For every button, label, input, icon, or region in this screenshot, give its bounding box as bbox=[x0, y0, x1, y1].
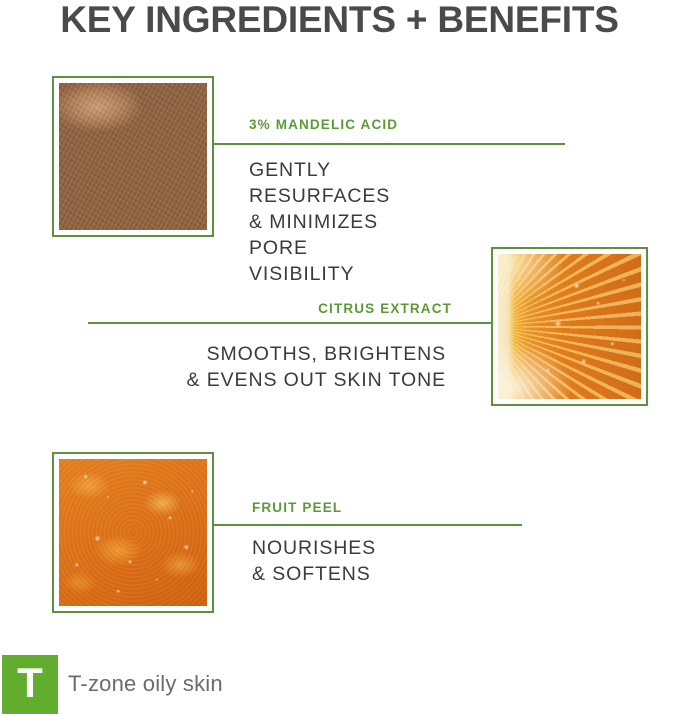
ingredient-label-fruit-peel: FRUIT PEEL bbox=[252, 500, 342, 515]
t-zone-badge: T bbox=[2, 655, 58, 714]
ingredient-description-fruit-peel: NOURISHES & SOFTENS bbox=[252, 535, 376, 587]
orange-slice-photo-frame bbox=[491, 247, 648, 406]
ingredient-description-mandelic-acid: GENTLY RESURFACES & MINIMIZES PORE VISIB… bbox=[249, 157, 390, 287]
orange-slice-photo bbox=[498, 254, 641, 399]
wet-orange-peel-photo bbox=[59, 459, 207, 606]
t-zone-caption: T-zone oily skin bbox=[68, 671, 223, 697]
ingredient-label-mandelic-acid: 3% MANDELIC ACID bbox=[249, 117, 398, 132]
page-title: KEY INGREDIENTS + BENEFITS bbox=[0, 0, 679, 43]
ingredient-divider-2 bbox=[88, 322, 492, 324]
almonds-photo bbox=[59, 83, 207, 230]
wet-orange-peel-photo-frame bbox=[52, 452, 214, 613]
ingredient-label-citrus-extract: CITRUS EXTRACT bbox=[0, 301, 452, 316]
ingredient-divider-1 bbox=[214, 143, 565, 145]
ingredient-description-citrus-extract: SMOOTHS, BRIGHTENS & EVENS OUT SKIN TONE bbox=[0, 341, 446, 393]
ingredient-divider-3 bbox=[214, 524, 522, 526]
almonds-photo-frame bbox=[52, 76, 214, 237]
